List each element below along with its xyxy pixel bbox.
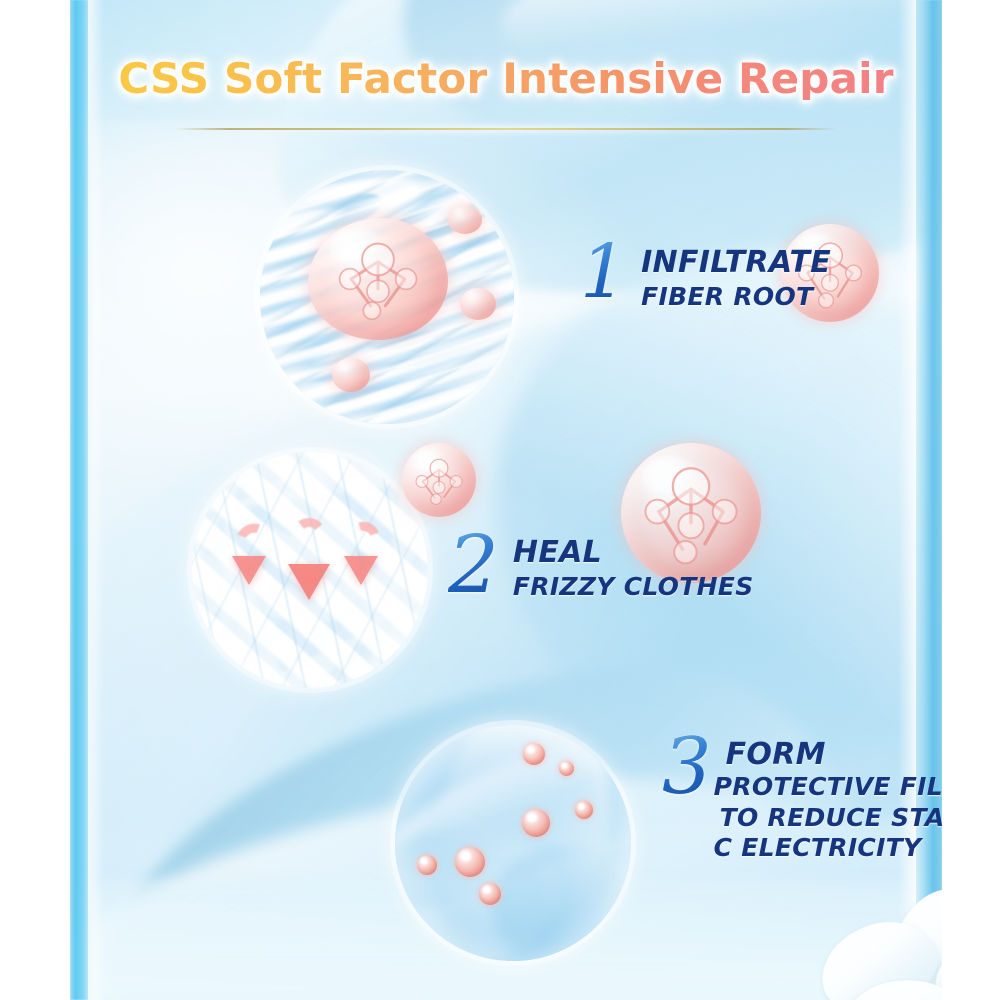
molecule-dot <box>523 743 545 765</box>
illustration-circle-infiltrate <box>260 170 514 424</box>
step-3-line-3: TO REDUCE STATI <box>720 803 942 834</box>
step-infiltrate: 1 INFILTRATE FIBER ROOT <box>580 238 831 313</box>
micro-bubble <box>448 206 482 234</box>
down-arrow-right <box>344 556 378 585</box>
step-3-text: FORM PROTECTIVE FILM TO REDUCE STATI C E… <box>726 732 942 864</box>
step-form: 3 FORM PROTECTIVE FILM TO REDUCE STATI C… <box>662 732 942 864</box>
page-title: CSS Soft Factor Intensive Repair <box>118 58 893 100</box>
molecule-dot <box>559 761 574 776</box>
molecule-bubble-small <box>402 443 476 517</box>
micro-bubble <box>460 288 496 320</box>
step-1-line-1: INFILTRATE <box>641 246 831 280</box>
step-number-1: 1 <box>580 238 627 306</box>
embedded-molecule-bubble <box>308 218 448 340</box>
molecule-icon <box>308 218 448 340</box>
step-1-text: INFILTRATE FIBER ROOT <box>641 238 831 313</box>
down-arrow-left <box>232 556 266 585</box>
step-2-text: HEAL FRIZZY CLOTHES <box>513 528 754 603</box>
title-divider <box>175 128 837 130</box>
step-3-line-4: C ELECTRICITY <box>714 833 942 864</box>
poster-panel: CSS Soft Factor Intensive Repair <box>70 0 942 1000</box>
molecule-dot <box>522 809 550 837</box>
poster-edge-left-inner <box>88 0 104 1000</box>
molecule-icon <box>402 443 476 517</box>
step-heal: 2 HEAL FRIZZY CLOTHES <box>448 528 754 603</box>
down-arrow-center <box>288 564 330 600</box>
step-2-line-1: HEAL <box>513 536 754 570</box>
molecule-dot <box>575 801 593 819</box>
step-3-line-1: FORM <box>726 738 942 772</box>
step-1-line-2: FIBER ROOT <box>641 282 831 313</box>
micro-bubble <box>332 358 370 392</box>
step-number-3: 3 <box>662 732 712 804</box>
step-3-line-2: PROTECTIVE FILM <box>714 772 942 803</box>
molecule-dot <box>479 883 501 905</box>
molecule-dot <box>455 847 485 877</box>
illustration-circle-form <box>395 725 631 961</box>
step-2-line-2: FRIZZY CLOTHES <box>513 572 754 603</box>
molecule-dot <box>417 855 437 875</box>
title-container: CSS Soft Factor Intensive Repair <box>70 58 942 100</box>
illustration-circle-heal <box>192 452 428 688</box>
poster-canvas: CSS Soft Factor Intensive Repair <box>0 0 1000 1000</box>
step-number-2: 2 <box>448 528 499 602</box>
